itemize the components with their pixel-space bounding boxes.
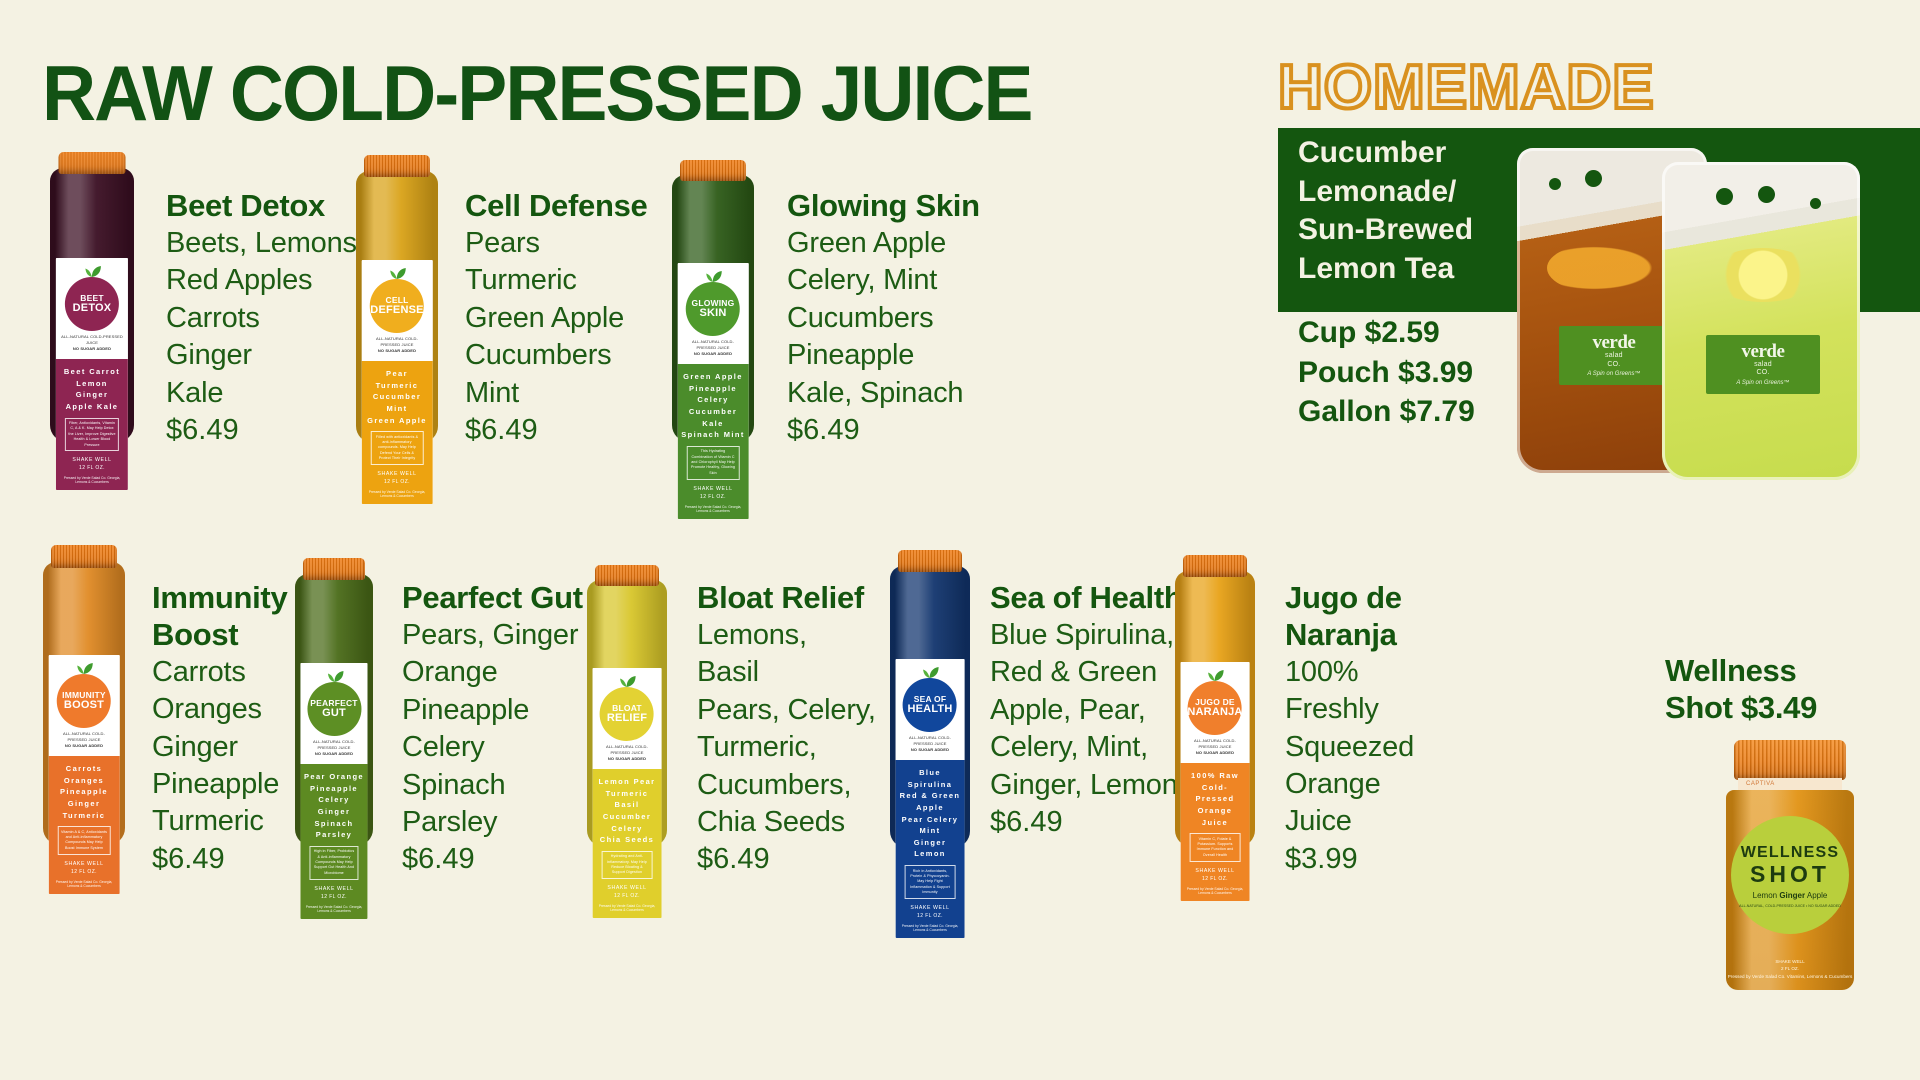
ingredient-line: Freshly (1285, 691, 1465, 728)
label-ingredient-line: Spinach Mint (681, 429, 746, 441)
label-ingredient-line: Turmeric (52, 810, 117, 822)
bloat-relief-price: $6.49 (697, 841, 897, 878)
ingredient-line: Chia Seeds (697, 804, 897, 841)
leaf-icon (1184, 669, 1247, 680)
bottle-label: PEARFECT GUT ALL-NATURAL COLD-PRESSED JU… (300, 663, 367, 919)
label-logo-line2: DETOX (73, 303, 112, 314)
label-fine-line2: NO SUGAR ADDED (61, 346, 123, 352)
label-logo-circle: JUGO DE NARANJA (1188, 681, 1242, 735)
bottle-cap (1734, 740, 1846, 780)
label-fine-line2: NO SUGAR ADDED (901, 747, 960, 753)
ingredient-line: Green Apple (465, 300, 675, 337)
label-fine-line1: ALL-NATURAL COLD-PRESSED JUICE (901, 735, 960, 747)
label-fine-line1: ALL-NATURAL COLD-PRESSED JUICE (367, 336, 428, 348)
shot-shake: SHAKE WELL (1726, 958, 1854, 965)
bottle-label: IMMUNITY BOOST ALL-NATURAL COLD-PRESSED … (49, 655, 120, 894)
ingredient-line: Turmeric (465, 262, 675, 299)
label-top: IMMUNITY BOOST ALL-NATURAL COLD-PRESSED … (49, 655, 120, 756)
label-ingredient-line: Lemon Pear (596, 776, 659, 788)
label-logo-circle: CELL DEFENSE (370, 279, 424, 333)
label-logo-circle: GLOWING SKIN (686, 282, 740, 336)
label-top: GLOWING SKIN ALL-NATURAL COLD-PRESSED JU… (678, 263, 749, 364)
ingredient-line: Ginger, Lemon (990, 767, 1195, 804)
jugo-de-naranja-details: Jugo de Naranja100%FreshlySqueezedOrange… (1285, 580, 1465, 878)
leaf-icon (59, 265, 125, 276)
label-ingredients: Blue SpirulinaRed & Green ApplePear Cele… (899, 767, 962, 860)
leaf-icon (681, 270, 746, 281)
label-ingredient-line: 100% Raw (1184, 770, 1247, 782)
label-fine-line2: NO SUGAR ADDED (598, 756, 657, 762)
price-gallon: Gallon $7.79 (1298, 392, 1578, 432)
label-logo-circle: IMMUNITY BOOST (57, 674, 111, 728)
bloat-relief-bottle-image: BLOAT RELIEF ALL-NATURAL COLD-PRESSED JU… (587, 565, 667, 847)
label-fine-line2: NO SUGAR ADDED (305, 751, 362, 757)
label-fine-print: ALL-NATURAL COLD-PRESSED JUICE NO SUGAR … (899, 732, 962, 756)
shot-footer-note: Pressed by Verde Salad Co. Vitamins, Lem… (1726, 973, 1854, 980)
label-shake-well: SHAKE WELL (899, 905, 962, 911)
pouch-brand-sub1: salad (1710, 361, 1817, 370)
label-logo-circle: BLOAT RELIEF (600, 687, 654, 741)
label-footer: Pressed by Verde Salad Co. Georgia, Lemo… (596, 904, 659, 912)
label-ingredient-line: Pineapple Celery (303, 783, 364, 806)
leaf-icon (303, 670, 364, 681)
label-top: PEARFECT GUT ALL-NATURAL COLD-PRESSED JU… (300, 663, 367, 764)
cell-defense-details: Cell DefensePearsTurmericGreen AppleCucu… (465, 188, 675, 449)
label-footer: Pressed by Verde Salad Co. Georgia, Lemo… (899, 924, 962, 932)
bottle-label: SEA OF HEALTH ALL-NATURAL COLD-PRESSED J… (896, 659, 965, 938)
label-footer: Pressed by Verde Salad Co. Georgia, Lemo… (52, 880, 117, 888)
pouch-brand-sub2: CO. (1563, 361, 1665, 370)
glowing-skin-details: Glowing SkinGreen AppleCelery, MintCucum… (787, 188, 1007, 449)
label-top: JUGO DE NARANJA ALL-NATURAL COLD-PRESSED… (1181, 662, 1250, 763)
label-logo-line2: NARANJA (1187, 707, 1242, 718)
homemade-title: HOMEMADE (1278, 52, 1655, 123)
ingredient-line: Mint (465, 375, 675, 412)
label-ingredient-line: Cucumber Celery (596, 811, 659, 834)
beet-detox-bottle-image: BEET DETOX ALL-NATURAL COLD-PRESSED JUIC… (50, 152, 134, 442)
label-footer: Pressed by Verde Salad Co. Georgia, Lemo… (303, 905, 364, 913)
ingredient-line: Celery (402, 729, 587, 766)
label-benefit-box: This Hydrating Combination of Vitamin C … (687, 446, 740, 480)
ingredient-line: Cucumbers (465, 337, 675, 374)
label-ingredient-line: Lemon Ginger (59, 378, 125, 401)
wellness-shot-text: Wellness Shot $3.49 (1665, 653, 1895, 727)
ingredient-line: Carrots (166, 300, 376, 337)
pouch-brand-tagline: A Spin on Greens™ (1563, 371, 1665, 377)
label-bottom: Pear TurmericCucumber MintGreen Apple Fi… (362, 361, 433, 504)
sea-of-health-price: $6.49 (990, 804, 1195, 841)
label-logo-circle: BEET DETOX (65, 277, 119, 331)
shot-label-line3: Lemon Ginger Apple (1753, 891, 1828, 900)
label-size: 12 FL OZ. (596, 893, 659, 899)
ingredient-line: Pears, Ginger (402, 617, 587, 654)
label-logo-line2: DEFENSE (370, 305, 423, 316)
ingredient-line: Pears (465, 225, 675, 262)
sea-of-health-name: Sea of Health (990, 580, 1195, 617)
bottle-cap (59, 152, 126, 174)
label-size: 12 FL OZ. (52, 869, 117, 875)
label-logo-line2: BOOST (64, 700, 104, 711)
label-ingredient-line: Carrots Oranges (52, 763, 117, 786)
bottle-cap (364, 155, 430, 177)
label-benefit-box: Fiber, Antioxidants, Vitamin C, A & K. M… (65, 418, 119, 452)
bottle-cap (595, 565, 659, 586)
sea-of-health-bottle-image: SEA OF HEALTH ALL-NATURAL COLD-PRESSED J… (890, 550, 970, 848)
wellness-shot-name-line1: Wellness (1665, 653, 1895, 690)
ingredient-line: Celery, Mint (787, 262, 1007, 299)
menu-board: RAW COLD-PRESSED JUICE HOMEMADE Cucumber… (0, 0, 1920, 1080)
ingredient-line: Ginger (166, 337, 376, 374)
price-pouch: Pouch $3.99 (1298, 353, 1578, 393)
label-bottom: 100% RawCold-PressedOrange Juice Vitamin… (1181, 763, 1250, 901)
pouch-brand-sub1: salad (1563, 352, 1665, 361)
label-ingredient-line: Orange Juice (1184, 805, 1247, 828)
label-bottom: Blue SpirulinaRed & Green ApplePear Cele… (896, 760, 965, 938)
label-ingredient-line: Blue Spirulina (899, 767, 962, 790)
wellness-shot-name-line2: Shot $3.49 (1665, 690, 1895, 727)
label-ingredient-line: Pear Celery Mint (899, 814, 962, 837)
label-fine-line2: NO SUGAR ADDED (367, 348, 428, 354)
label-bottom: Lemon PearTurmeric BasilCucumber CeleryC… (593, 769, 662, 918)
label-fine-print: ALL-NATURAL COLD-PRESSED JUICE NO SUGAR … (52, 728, 117, 752)
homemade-line-1: Cucumber (1298, 134, 1548, 173)
label-fine-line1: ALL-NATURAL COLD-PRESSED JUICE (683, 339, 744, 351)
bottle-cap (303, 558, 365, 580)
bottle-cap (680, 160, 746, 181)
jugo-de-naranja-bottle-image: JUGO DE NARANJA ALL-NATURAL COLD-PRESSED… (1175, 555, 1255, 847)
shot-flavor-1: Lemon (1753, 891, 1780, 900)
label-ingredient-line: Cucumber Kale (681, 406, 746, 429)
label-shake-well: SHAKE WELL (1184, 868, 1247, 874)
ingredient-line: Celery, Mint, (990, 729, 1195, 766)
ingredient-line: Pears, Celery, (697, 692, 897, 729)
label-top: SEA OF HEALTH ALL-NATURAL COLD-PRESSED J… (896, 659, 965, 760)
cell-defense-name: Cell Defense (465, 188, 675, 225)
label-logo-line2: GUT (322, 708, 346, 719)
ingredient-line: Blue Spirulina, (990, 617, 1195, 654)
label-ingredient-line: Apple Kale (59, 401, 125, 413)
pouch-brand-sub2: CO. (1710, 369, 1817, 378)
label-fine-print: ALL-NATURAL COLD-PRESSED JUICE NO SUGAR … (303, 736, 364, 760)
bottle-label: BLOAT RELIEF ALL-NATURAL COLD-PRESSED JU… (593, 668, 662, 918)
shot-label-line1: WELLNESS (1741, 844, 1840, 862)
label-footer: Pressed by Verde Salad Co. Georgia, Lemo… (1184, 887, 1247, 895)
label-bottom: Carrots OrangesPineapple GingerTurmeric … (49, 756, 120, 894)
bloat-relief-details: Bloat ReliefLemons,BasilPears, Celery,Tu… (697, 580, 897, 879)
label-bottom: Green ApplePineapple CeleryCucumber Kale… (678, 364, 749, 519)
sea-of-health-details: Sea of HealthBlue Spirulina,Red & GreenA… (990, 580, 1195, 841)
homemade-line-2: Lemonade/ (1298, 173, 1548, 212)
pouch-brand-tagline: A Spin on Greens™ (1710, 380, 1817, 386)
glowing-skin-bottle-image: GLOWING SKIN ALL-NATURAL COLD-PRESSED JU… (672, 160, 754, 442)
label-fine-print: ALL-NATURAL COLD-PRESSED JUICE NO SUGAR … (1184, 735, 1247, 759)
pearfect-gut-bottle-image: PEARFECT GUT ALL-NATURAL COLD-PRESSED JU… (295, 558, 373, 846)
ingredient-line: Apple, Pear, (990, 692, 1195, 729)
ingredient-line: Orange (402, 654, 587, 691)
label-ingredient-line: Pineapple Ginger (52, 786, 117, 809)
page-title: RAW COLD-PRESSED JUICE (42, 48, 1032, 139)
beet-detox-price: $6.49 (166, 412, 376, 449)
label-shake-well: SHAKE WELL (303, 886, 364, 892)
label-ingredient-line: Ginger Lemon (899, 837, 962, 860)
jugo-de-naranja-price: $3.99 (1285, 841, 1465, 878)
bottle-label: JUGO DE NARANJA ALL-NATURAL COLD-PRESSED… (1181, 662, 1250, 901)
label-top: BLOAT RELIEF ALL-NATURAL COLD-PRESSED JU… (593, 668, 662, 769)
label-size: 12 FL OZ. (681, 494, 746, 500)
label-ingredients: Lemon PearTurmeric BasilCucumber CeleryC… (596, 776, 659, 846)
leaf-icon (596, 675, 659, 686)
shot-size: 2 FL OZ. (1726, 965, 1854, 972)
homemade-panel-text: Cucumber Lemonade/ Sun-Brewed Lemon Tea (1298, 134, 1548, 289)
beet-detox-details: Beet DetoxBeets, LemonsRed ApplesCarrots… (166, 188, 376, 449)
bottle-cap (51, 545, 117, 568)
label-benefit-box: Filled with antioxidants & anti-inflamma… (371, 431, 424, 465)
bottle-body: WELLNESS SHOT Lemon Ginger Apple ALL-NAT… (1726, 790, 1854, 990)
label-benefit-box: Vitamin C, Folate & Potassium. Supports … (1190, 833, 1241, 862)
bottle-label: GLOWING SKIN ALL-NATURAL COLD-PRESSED JU… (678, 263, 749, 519)
label-ingredient-line: Chia Seeds (596, 834, 659, 846)
ingredient-line: Basil (697, 654, 897, 691)
wellness-shot-bottle-image: CAPTIVA WELLNESS SHOT Lemon Ginger Apple… (1700, 740, 1880, 990)
label-logo-line2: HEALTH (907, 704, 952, 715)
label-ingredient-line: Green Apple (681, 371, 746, 383)
label-ingredient-line: Cucumber Mint (365, 391, 430, 414)
beet-detox-name: Beet Detox (166, 188, 376, 225)
label-logo-line2: SKIN (699, 308, 726, 319)
pouch-brand-name: verde (1710, 342, 1817, 361)
label-ingredient-line: Pineapple Celery (681, 383, 746, 406)
ingredient-line: Lemons, (697, 617, 897, 654)
label-shake-well: SHAKE WELL (596, 885, 659, 891)
bottle-cap (898, 550, 962, 572)
pearfect-gut-details: Pearfect GutPears, GingerOrangePineapple… (402, 580, 587, 879)
label-fine-print: ALL-NATURAL COLD-PRESSED JUICE NO SUGAR … (596, 741, 659, 765)
label-top: BEET DETOX ALL-NATURAL COLD-PRESSED JUIC… (56, 258, 128, 359)
label-ingredient-line: Pear Orange (303, 771, 364, 783)
label-ingredients: Green ApplePineapple CeleryCucumber Kale… (681, 371, 746, 441)
label-shake-well: SHAKE WELL (59, 457, 125, 463)
label-fine-line2: NO SUGAR ADDED (683, 351, 744, 357)
ingredient-line: Kale (166, 375, 376, 412)
label-ingredient-line: Beet Carrot (59, 366, 125, 378)
ingredient-line: Kale, Spinach (787, 375, 1007, 412)
label-ingredient-line: Pear Turmeric (365, 368, 430, 391)
shot-flavor-3: Apple (1805, 891, 1827, 900)
ingredient-line: Turmeric, (697, 729, 897, 766)
label-size: 12 FL OZ. (899, 913, 962, 919)
glowing-skin-name: Glowing Skin (787, 188, 1007, 225)
shot-flavor-2: Ginger (1779, 891, 1805, 900)
ingredient-line: Green Apple (787, 225, 1007, 262)
pearfect-gut-price: $6.49 (402, 841, 587, 878)
label-ingredients: Pear OrangePineapple CeleryGinger Spinac… (303, 771, 364, 841)
label-ingredient-line: Green Apple (365, 415, 430, 427)
ingredient-line: Pineapple (787, 337, 1007, 374)
label-shake-well: SHAKE WELL (52, 861, 117, 867)
label-footer: Pressed by Verde Salad Co. Georgia, Lemo… (365, 490, 430, 498)
label-benefit-box: High in Fiber, Probiotics & Anti-inflamm… (309, 846, 358, 880)
shot-label-fine: ALL-NATURAL, COLD-PRESSED JUICE • NO SUG… (1739, 904, 1841, 909)
ingredient-line: 100% (1285, 654, 1465, 691)
cucumber-lemonade-pouch-image: verde salad CO. A Spin on Greens™ (1662, 162, 1860, 480)
label-shake-well: SHAKE WELL (681, 486, 746, 492)
label-fine-line1: ALL-NATURAL COLD-PRESSED JUICE (54, 731, 115, 743)
bottle-label: CELL DEFENSE ALL-NATURAL COLD-PRESSED JU… (362, 260, 433, 504)
label-fine-line2: NO SUGAR ADDED (54, 743, 115, 749)
label-benefit-box: Rich in Antioxidants, Protein & Phycocya… (905, 865, 956, 899)
label-footer: Pressed by Verde Salad Co. Georgia, Lemo… (59, 476, 125, 484)
label-logo-circle: PEARFECT GUT (307, 682, 361, 736)
label-logo-line2: RELIEF (607, 713, 647, 724)
pouch-holes (1662, 184, 1860, 210)
leaf-icon (365, 267, 430, 278)
label-ingredient-line: Parsley (303, 829, 364, 841)
ingredient-line: Cucumbers, (697, 767, 897, 804)
leaf-icon (52, 662, 117, 673)
bottle-cap (1183, 555, 1247, 577)
bloat-relief-name: Bloat Relief (697, 580, 897, 617)
ingredient-line: Pineapple (402, 692, 587, 729)
label-bottom: Beet CarrotLemon GingerApple Kale Fiber,… (56, 359, 128, 490)
label-size: 12 FL OZ. (59, 465, 125, 471)
ingredient-line: Spinach (402, 767, 587, 804)
pouch-brand-label: verde salad CO. A Spin on Greens™ (1706, 335, 1821, 395)
price-cup: Cup $2.59 (1298, 313, 1578, 353)
ingredient-line: Red Apples (166, 262, 376, 299)
label-ingredients: 100% RawCold-PressedOrange Juice (1184, 770, 1247, 828)
label-ingredient-line: Cold-Pressed (1184, 782, 1247, 805)
bottle-label: BEET DETOX ALL-NATURAL COLD-PRESSED JUIC… (56, 258, 128, 490)
label-logo-circle: SEA OF HEALTH (903, 678, 957, 732)
label-footer: Pressed by Verde Salad Co. Georgia, Lemo… (681, 505, 746, 513)
label-ingredient-line: Ginger Spinach (303, 806, 364, 829)
homemade-line-3: Sun-Brewed (1298, 211, 1548, 250)
immunity-boost-bottle-image: IMMUNITY BOOST ALL-NATURAL COLD-PRESSED … (43, 545, 125, 845)
label-ingredient-line: Red & Green Apple (899, 790, 962, 813)
ingredient-line: Juice (1285, 803, 1465, 840)
pouch-brand-name: verde (1563, 333, 1665, 352)
label-fine-line2: NO SUGAR ADDED (1186, 750, 1245, 756)
label-fine-line1: ALL-NATURAL COLD-PRESSED JUICE (305, 739, 362, 751)
label-fine-line1: ALL-NATURAL COLD-PRESSED JUICE (1186, 738, 1245, 750)
ingredient-line: Parsley (402, 804, 587, 841)
homemade-line-4: Lemon Tea (1298, 250, 1548, 289)
shot-label-footer: SHAKE WELL 2 FL OZ. Pressed by Verde Sal… (1726, 958, 1854, 980)
homemade-prices: Cup $2.59 Pouch $3.99 Gallon $7.79 (1298, 313, 1578, 432)
label-fine-print: ALL-NATURAL COLD-PRESSED JUICE NO SUGAR … (59, 331, 125, 355)
label-bottom: Pear OrangePineapple CeleryGinger Spinac… (300, 764, 367, 919)
label-shake-well: SHAKE WELL (365, 471, 430, 477)
jugo-de-naranja-name: Jugo de Naranja (1285, 580, 1465, 654)
label-fine-print: ALL-NATURAL COLD-PRESSED JUICE NO SUGAR … (365, 333, 430, 357)
label-ingredients: Carrots OrangesPineapple GingerTurmeric (52, 763, 117, 821)
ingredient-line: Cucumbers (787, 300, 1007, 337)
bottle-label: WELLNESS SHOT Lemon Ginger Apple ALL-NAT… (1731, 816, 1849, 934)
cell-defense-bottle-image: CELL DEFENSE ALL-NATURAL COLD-PRESSED JU… (356, 155, 438, 443)
cell-defense-price: $6.49 (465, 412, 675, 449)
label-size: 12 FL OZ. (365, 479, 430, 485)
glowing-skin-price: $6.49 (787, 412, 1007, 449)
ingredient-line: Beets, Lemons (166, 225, 376, 262)
leaf-icon (899, 666, 962, 677)
label-ingredient-line: Turmeric Basil (596, 788, 659, 811)
ingredient-line: Squeezed (1285, 729, 1465, 766)
shot-label-line2: SHOT (1750, 861, 1830, 888)
label-size: 12 FL OZ. (1184, 876, 1247, 882)
label-size: 12 FL OZ. (303, 894, 364, 900)
label-ingredients: Pear TurmericCucumber MintGreen Apple (365, 368, 430, 426)
pearfect-gut-name: Pearfect Gut (402, 580, 587, 617)
label-ingredients: Beet CarrotLemon GingerApple Kale (59, 366, 125, 413)
label-fine-print: ALL-NATURAL COLD-PRESSED JUICE NO SUGAR … (681, 336, 746, 360)
label-benefit-box: Hydrating and Anti-inflammatory. May Hel… (602, 851, 653, 880)
label-fine-line1: ALL-NATURAL COLD-PRESSED JUICE (61, 334, 123, 346)
label-fine-line1: ALL-NATURAL COLD-PRESSED JUICE (598, 744, 657, 756)
label-top: CELL DEFENSE ALL-NATURAL COLD-PRESSED JU… (362, 260, 433, 361)
ingredient-line: Orange (1285, 766, 1465, 803)
label-benefit-box: Vitamin A & C, Antioxidants and Anti-inf… (58, 826, 111, 855)
ingredient-line: Red & Green (990, 654, 1195, 691)
